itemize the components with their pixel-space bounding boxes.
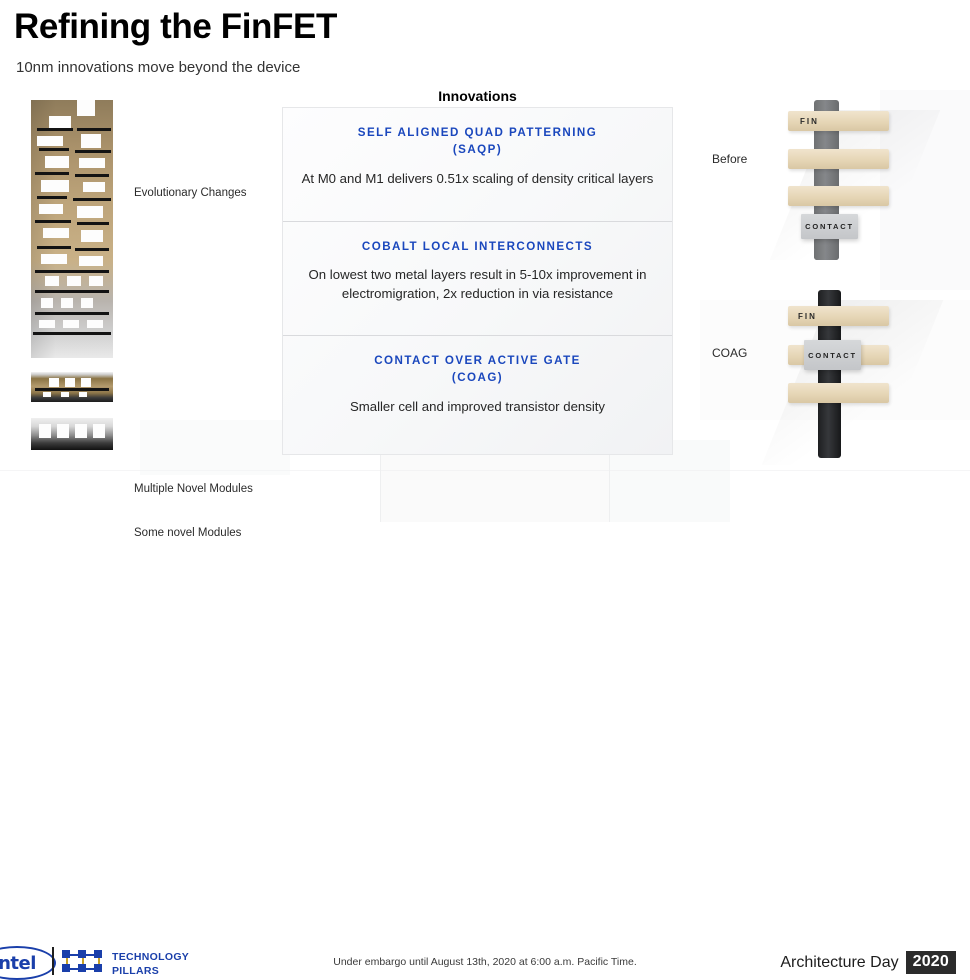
architecture-day-text: Architecture Day: [780, 954, 898, 972]
multi-module-cross-section-image: [31, 372, 113, 402]
fin-bar: [788, 149, 889, 169]
innovation-card-title-line1: COBALT LOCAL INTERCONNECTS: [362, 240, 593, 253]
fin-bar: [788, 383, 889, 403]
innovation-card-title-line1: CONTACT OVER ACTIVE GATE: [374, 354, 581, 367]
innovation-card-cobalt: COBALT LOCAL INTERCONNECTS On lowest two…: [283, 221, 672, 335]
novel-module-cross-section-image: [31, 418, 113, 450]
innovation-card-title-line2: (SAQP): [453, 143, 502, 156]
innovation-card-body: At M0 and M1 delivers 0.51x scaling of d…: [301, 170, 654, 188]
diagram-coag: COAG FIN CONTACT: [690, 288, 970, 463]
contact-box: CONTACT: [804, 340, 861, 370]
diagram-before: Before FIN CONTACT: [690, 100, 970, 260]
architecture-day-year: 2020: [906, 951, 956, 974]
innovation-card-title: SELF ALIGNED QUAD PATTERNING (SAQP): [301, 124, 654, 159]
left-column: Evolutionary Changes Multiple Novel Modu…: [0, 100, 282, 460]
footer: ntel TECHNOLOGY PILLARS Under embargo un…: [0, 464, 970, 522]
innovation-card-body: Smaller cell and improved transistor den…: [301, 398, 654, 416]
diagram-label-coag: COAG: [712, 346, 747, 360]
innovation-card-body: On lowest two metal layers result in 5-1…: [301, 266, 654, 302]
innovation-card-coag: CONTACT OVER ACTIVE GATE (COAG) Smaller …: [283, 335, 672, 454]
metal-stack-cross-section-image: [31, 100, 113, 358]
contact-label: CONTACT: [808, 351, 857, 360]
left-label-some-novel-modules: Some novel Modules: [134, 527, 241, 539]
page-subtitle: 10nm innovations move beyond the device: [16, 59, 300, 76]
fin-label: FIN: [798, 312, 817, 321]
fin-bar: [788, 186, 889, 206]
innovations-heading: Innovations: [282, 88, 673, 104]
left-label-evolutionary-changes: Evolutionary Changes: [134, 187, 247, 199]
innovation-card-title: COBALT LOCAL INTERCONNECTS: [301, 238, 654, 255]
innovations-panel: SELF ALIGNED QUAD PATTERNING (SAQP) At M…: [282, 107, 673, 455]
diagram-label-before: Before: [712, 152, 747, 166]
page-title: Refining the FinFET: [14, 8, 337, 47]
innovation-card-title: CONTACT OVER ACTIVE GATE (COAG): [301, 352, 654, 387]
contact-label: CONTACT: [805, 222, 854, 231]
architecture-day-badge: Architecture Day 2020: [780, 951, 956, 974]
innovation-card-title-line1: SELF ALIGNED QUAD PATTERNING: [358, 126, 597, 139]
innovation-card-saqp: SELF ALIGNED QUAD PATTERNING (SAQP) At M…: [283, 108, 672, 221]
contact-box: CONTACT: [801, 214, 858, 239]
fin-label: FIN: [800, 117, 819, 126]
innovation-card-title-line2: (COAG): [452, 371, 503, 384]
